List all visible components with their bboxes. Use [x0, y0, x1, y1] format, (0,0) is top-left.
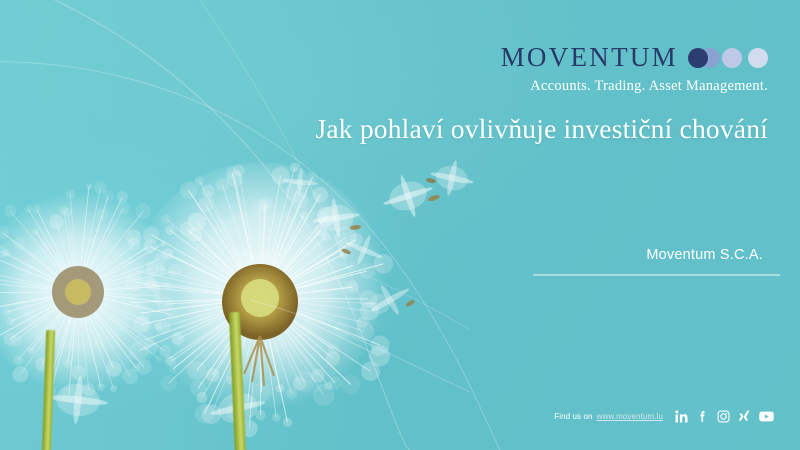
footer-social-bar: Find us on www.moventum.lu — [554, 410, 774, 423]
logo-dot-4 — [748, 48, 768, 68]
linkedin-icon[interactable] — [675, 410, 688, 423]
logo-dots-icon — [688, 47, 768, 69]
brand-tagline: Accounts. Trading. Asset Management. — [501, 78, 768, 95]
youtube-icon[interactable] — [759, 410, 774, 423]
moventum-logo: MOVENTUM Accounts. Trading. Asset Manage… — [501, 44, 768, 95]
facebook-icon[interactable] — [696, 410, 709, 423]
logo-dot-1 — [688, 48, 708, 68]
social-icons — [675, 410, 774, 423]
find-us-label: Find us on — [554, 412, 592, 421]
page-title: Jak pohlaví ovlivňuje investiční chování — [316, 113, 769, 145]
logo-dot-3 — [722, 48, 742, 68]
presentation-slide: MOVENTUM Accounts. Trading. Asset Manage… — [0, 0, 800, 450]
xing-icon[interactable] — [738, 410, 751, 423]
logo-row: MOVENTUM — [501, 44, 768, 71]
instagram-icon[interactable] — [717, 410, 730, 423]
website-link[interactable]: www.moventum.lu — [597, 412, 663, 421]
brand-wordmark: MOVENTUM — [501, 44, 678, 71]
presenter-name: Moventum S.C.A. — [646, 247, 763, 263]
title-divider — [533, 274, 780, 276]
